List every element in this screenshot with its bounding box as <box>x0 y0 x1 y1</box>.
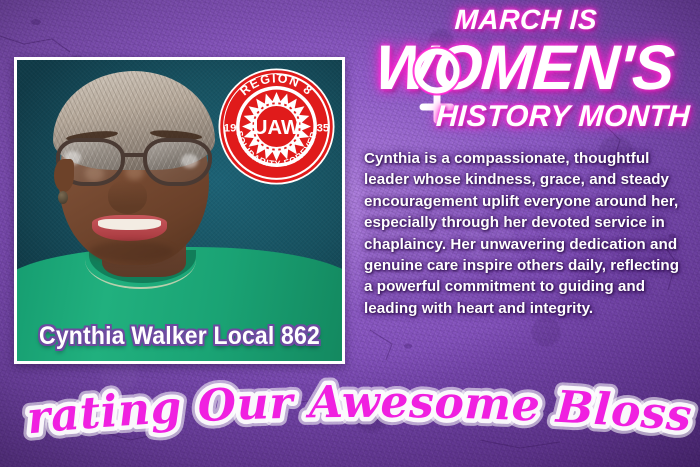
headline-march-is: MARCH IS <box>359 6 692 34</box>
women-history-month-poster: UAW 19 35 REGION 8 SOLIDARITY FOREVER Cy… <box>0 0 700 467</box>
portrait-photo: UAW 19 35 REGION 8 SOLIDARITY FOREVER Cy… <box>17 60 342 361</box>
eyeglass-lens-right <box>143 138 212 186</box>
eyeglasses <box>56 138 212 186</box>
ear-left <box>54 159 74 192</box>
portrait-photo-card: UAW 19 35 REGION 8 SOLIDARITY FOREVER Cy… <box>14 57 345 364</box>
badge-center-text: UAW <box>253 117 301 139</box>
headline-block: MARCH IS WOMEN'S HISTORY MONTH <box>356 6 692 133</box>
uaw-region-8-badge: UAW 19 35 REGION 8 SOLIDARITY FOREVER <box>217 67 336 186</box>
headline-womens-row: WOMEN'S <box>356 36 692 100</box>
tagline-text: Celebrating Our Awesome Blossoms! <box>0 372 694 444</box>
teeth <box>98 219 161 231</box>
bio-paragraph: Cynthia is a compassionate, thoughtful l… <box>364 148 682 319</box>
photo-caption: Cynthia Walker Local 862 <box>30 322 329 351</box>
smiling-mouth <box>92 215 167 241</box>
headline-womens: WOMEN'S <box>373 36 676 100</box>
nose <box>108 180 147 213</box>
lens-glare-right <box>181 154 198 168</box>
tagline-banner: Celebrating Our Awesome Blossoms! Celebr… <box>0 372 700 450</box>
chin-shadow <box>89 241 174 262</box>
headline-history-month: HISTORY MONTH <box>355 101 693 133</box>
eyeglass-bridge <box>123 153 145 157</box>
